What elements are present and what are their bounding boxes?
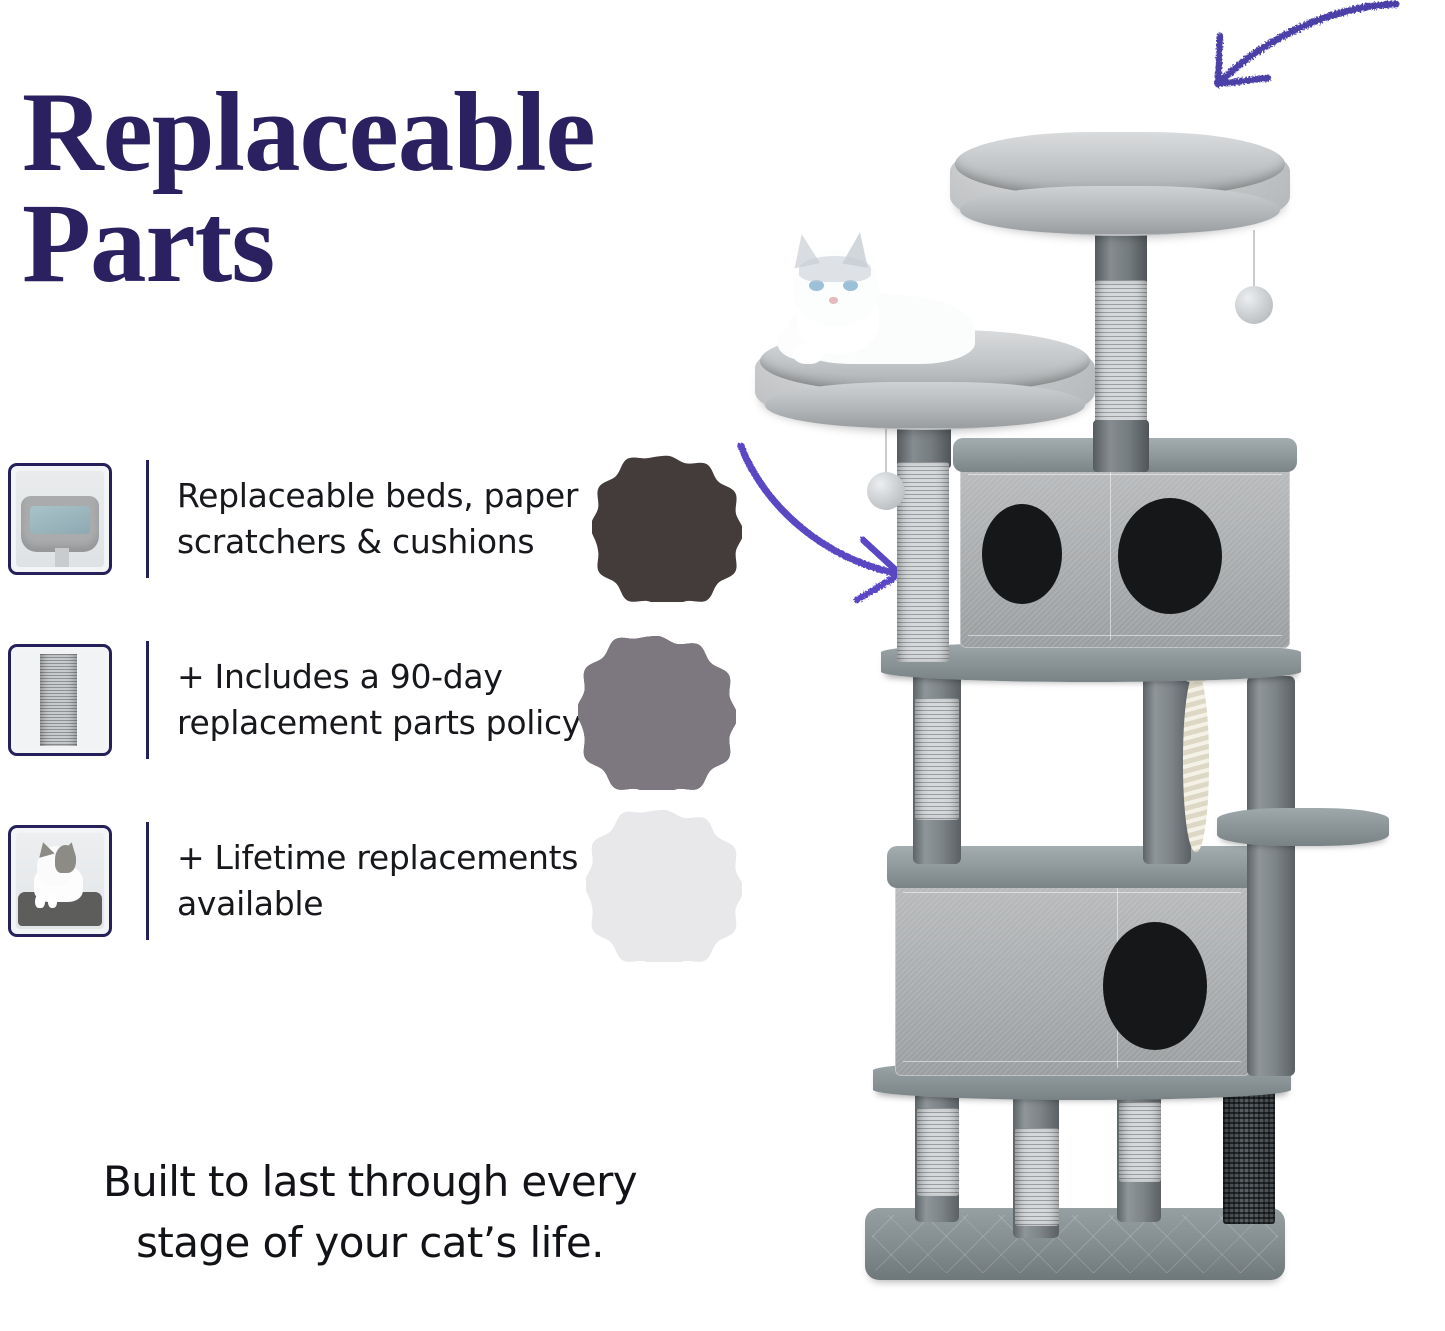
upper-condo-opening-left: [982, 504, 1062, 604]
infographic-page: Replaceable Parts Replaceable beds, pape…: [0, 0, 1445, 1331]
top-pom-pom-toy: [1235, 286, 1273, 324]
mid-pom-pom-toy: [867, 472, 905, 510]
base-paper-scratcher-right: [1119, 1102, 1161, 1182]
cat-photo: [763, 232, 1023, 362]
page-title-line-1: Replaceable: [22, 70, 595, 195]
base-paper-scratcher-center: [1015, 1128, 1059, 1226]
top-pom-string: [1253, 230, 1255, 290]
cat-on-cushion-thumbnail: [8, 825, 112, 937]
cat-tree-product-image: [745, 120, 1385, 1330]
divider: [146, 822, 149, 940]
lower-condo: [895, 876, 1250, 1076]
upper-condo: [960, 460, 1290, 648]
feature-label: Replaceable beds, paper scratchers & cus…: [177, 473, 597, 564]
top-plush-bed: [950, 132, 1290, 236]
tagline-line-2: stage of your cat’s life.: [45, 1213, 695, 1274]
paper-scratcher-thumbnail: [8, 644, 112, 756]
mid-post-far-right: [1247, 676, 1295, 1076]
base-paper-scratcher-left: [917, 1108, 959, 1196]
scallop-blob-dark: [592, 452, 742, 602]
tagline: Built to last through every stage of you…: [45, 1152, 695, 1274]
page-title: Replaceable Parts: [22, 78, 762, 299]
tagline-line-1: Built to last through every: [45, 1152, 695, 1213]
replaceable-bed-thumbnail: [8, 463, 112, 575]
lower-condo-opening: [1103, 922, 1207, 1050]
top-post-collar-lower: [1093, 420, 1149, 472]
side-perch: [1217, 808, 1389, 846]
divider: [146, 460, 149, 578]
arrow-to-top-bed: [1140, 0, 1400, 122]
feature-label: + Includes a 90-day replacement parts po…: [177, 654, 597, 745]
upper-condo-opening-right: [1118, 498, 1222, 614]
mid-paper-scratcher-left: [915, 698, 959, 820]
scallop-blob-light: [586, 806, 742, 962]
divider: [146, 641, 149, 759]
scallop-blob-medium: [578, 632, 736, 790]
sisal-rope-toy: [1183, 672, 1209, 852]
page-title-line-2: Parts: [22, 189, 762, 300]
feature-label: + Lifetime replacements available: [177, 835, 597, 926]
